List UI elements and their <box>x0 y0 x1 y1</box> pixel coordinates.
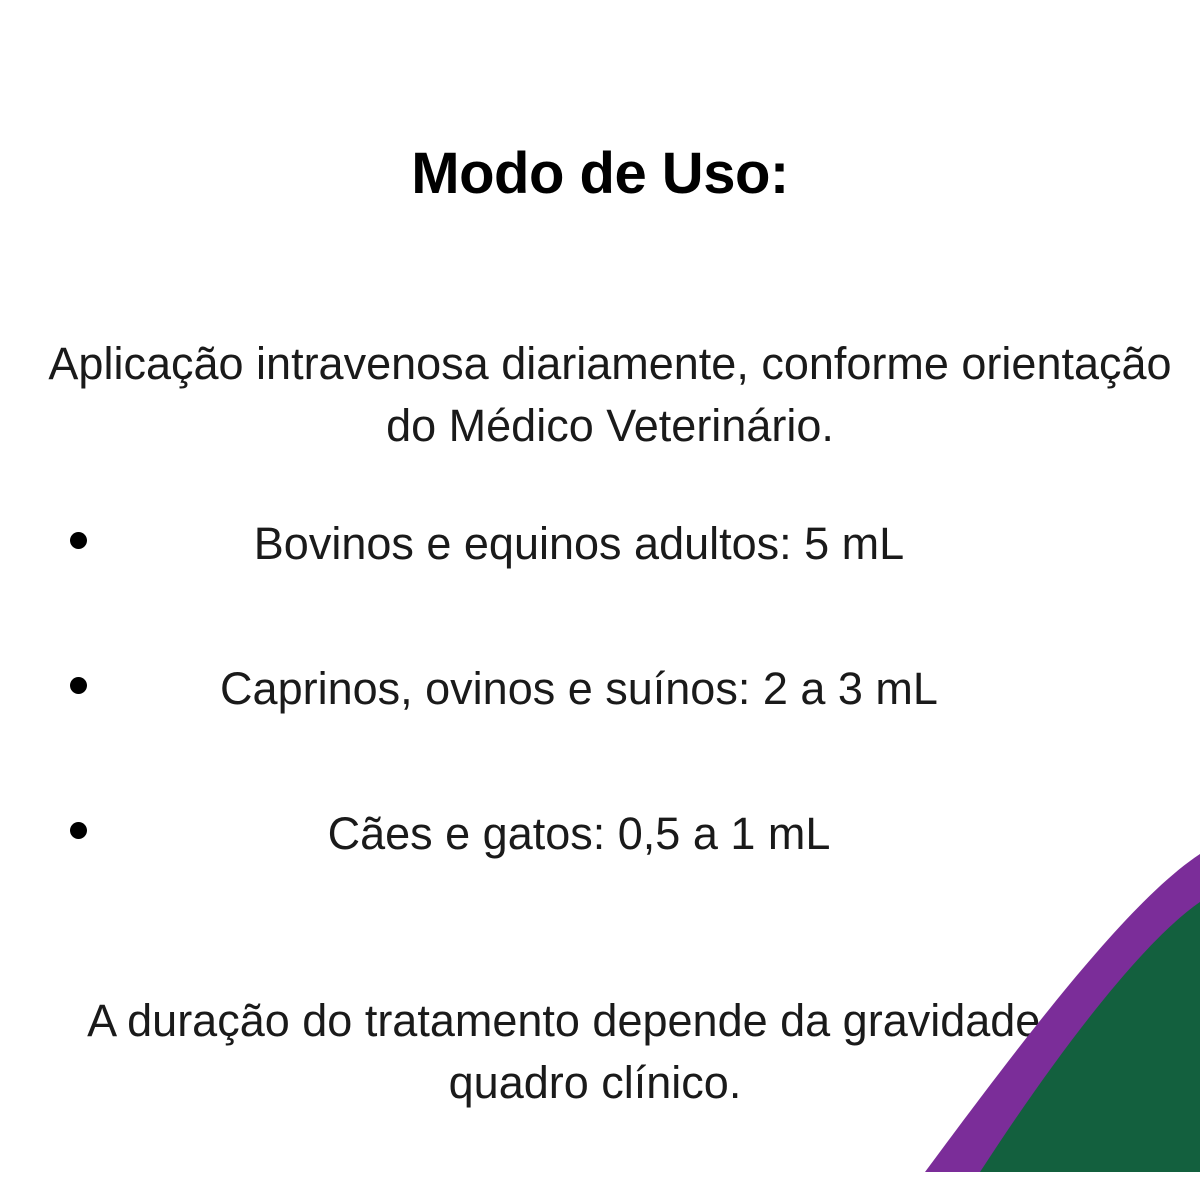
list-item-label: Bovinos e equinos adultos: 5 mL <box>30 512 1170 576</box>
slide-content: Modo de Uso: Aplicação intravenosa diari… <box>0 0 1200 1200</box>
bullet-dot-icon <box>70 822 87 839</box>
list-item-label: Cães e gatos: 0,5 a 1 mL <box>30 802 1170 866</box>
closing-paragraph: A duração do tratamento depende da gravi… <box>60 990 1130 1113</box>
list-item: Bovinos e equinos adultos: 5 mL <box>30 512 1170 576</box>
list-item: Cães e gatos: 0,5 a 1 mL <box>30 802 1170 866</box>
list-item: Caprinos, ovinos e suínos: 2 a 3 mL <box>30 657 1170 721</box>
bullet-dot-icon <box>70 532 87 549</box>
intro-paragraph: Aplicação intravenosa diariamente, confo… <box>40 333 1180 456</box>
list-item-label: Caprinos, ovinos e suínos: 2 a 3 mL <box>30 657 1170 721</box>
slide-canvas: Modo de Uso: Aplicação intravenosa diari… <box>0 0 1200 1200</box>
bullet-dot-icon <box>70 677 87 694</box>
page-title: Modo de Uso: <box>30 142 1170 207</box>
